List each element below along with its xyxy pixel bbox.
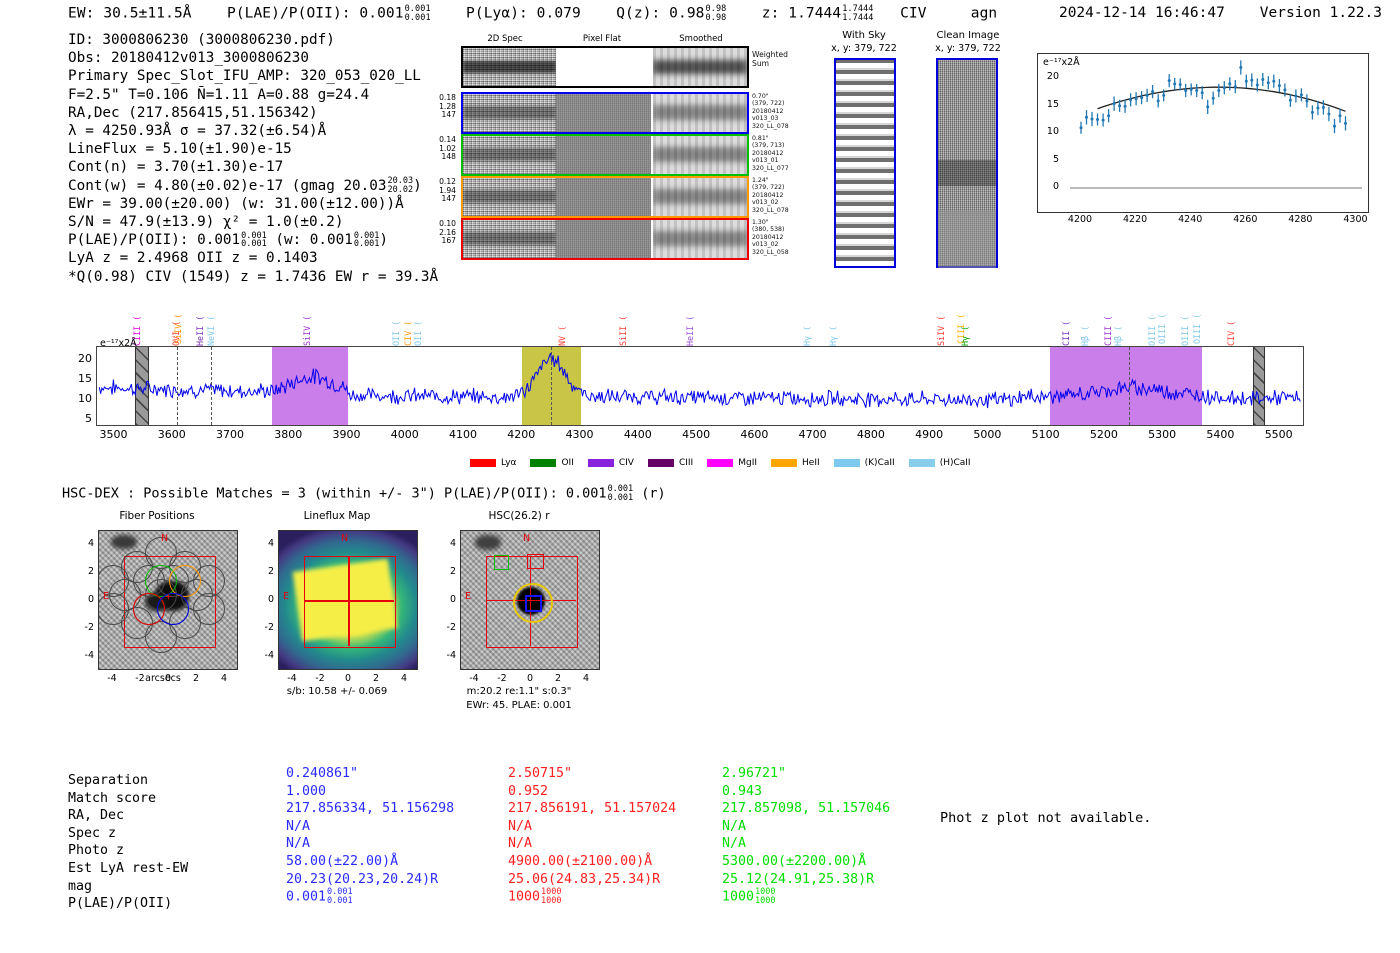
y-tick-label: 5 [1033, 154, 1059, 165]
weighted-sum-smoothed-image [653, 48, 747, 86]
exposure-meta-line: 320_LL_078 [752, 123, 798, 130]
weighted-sum-pixelflat-image [556, 48, 651, 86]
match-table-cell: 217.857098, 51.157046 [722, 800, 890, 818]
exposure-metrics: 0.102.16167 [424, 220, 456, 246]
hsc-r-image[interactable]: N E [460, 530, 600, 670]
hsc-match-marker-green [494, 555, 509, 570]
info-id: ID: 3000806230 (3000806230.pdf) [68, 31, 438, 49]
exposure-2dspec-image [463, 94, 556, 132]
legend-item: (H)CaII [909, 458, 971, 468]
x-tick-label: 0 [334, 673, 362, 684]
line-fit-axes [1037, 53, 1369, 213]
emission-line-label: SiIV ( [302, 304, 312, 346]
legend-swatch [648, 459, 674, 467]
exposure-meta: 0.70"(379, 722)20180412v013_03320_LL_078 [752, 93, 798, 130]
legend-label: Lyα [501, 458, 516, 468]
info-redshifts: LyA z = 2.4968 OII z = 0.1403 [68, 249, 438, 267]
timestamp: 2024-12-14 16:46:47 [1059, 5, 1225, 21]
match-table-cell: 4900.00(±2100.00)Å [508, 853, 676, 871]
emission-line-label: OII ( [413, 304, 423, 346]
x-tick-label: 4 [210, 673, 238, 684]
legend-label: CIII [679, 458, 693, 468]
hsc-caption-1: m:20.2 re:1.1" s:0.3" [424, 686, 614, 697]
exposure-metrics: 0.141.02148 [424, 136, 456, 162]
fiber-center-marker: + [165, 593, 172, 601]
legend-swatch [771, 459, 797, 467]
match-table-row-label: Est LyA rest-EW [68, 860, 188, 878]
y-tick-label: -4 [248, 650, 274, 661]
y-tick-label: 10 [64, 392, 92, 405]
match-table-cell: N/A [286, 818, 454, 836]
info-primary-amp: Primary Spec_Slot_IFU_AMP: 320_053_020_L… [68, 67, 438, 85]
emission-line-label: SiIV ( [936, 304, 946, 346]
exposure-metric-value: 148 [424, 153, 456, 162]
x-tick-label: 4300 [558, 428, 602, 441]
col-title-pixelflat: Pixel Flat [557, 34, 647, 44]
hsc-match-marker-red [527, 554, 544, 569]
x-tick-label: -2 [488, 673, 516, 684]
legend-item: Lyα [470, 458, 516, 468]
y-tick-label: 4 [248, 538, 274, 549]
x-tick-label: 4 [572, 673, 600, 684]
header-classification: CIV [900, 6, 927, 22]
exposure-smoothed-image [653, 178, 747, 216]
spectrum-legend: LyαOIICIVCIIIMgIIHeII(K)CaII(H)CaII [470, 452, 985, 471]
match-table-row-label: Separation [68, 772, 188, 790]
exposure-row [461, 134, 749, 176]
exposure-meta-line: 320_LL_077 [752, 165, 798, 172]
exposure-metric-value: 167 [424, 237, 456, 246]
exposure-meta-line: 320_LL_078 [752, 207, 798, 214]
info-ewr: EWr = 39.00(±20.00) (w: 31.00(±12.00))Å [68, 195, 438, 213]
exposure-2dspec-image [463, 136, 556, 174]
y-tick-label: 4 [430, 538, 456, 549]
y-tick-label: 2 [430, 566, 456, 577]
x-tick-label: -4 [98, 673, 126, 684]
x-tick-label: -2 [126, 673, 154, 684]
match-table-cell: 100010001000 [508, 888, 676, 906]
exposure-meta-line: 1.30" [752, 219, 798, 226]
compass-e-fiber: E [103, 591, 109, 602]
exposure-pixelflat-image [556, 136, 651, 174]
x-tick-label: 3700 [208, 428, 252, 441]
x-tick-label: 0 [516, 673, 544, 684]
match-table-cell: 1.000 [286, 783, 454, 801]
x-tick-label: 4240 [1172, 214, 1208, 225]
legend-label: (K)CaII [865, 458, 895, 468]
y-tick-label: -4 [68, 650, 94, 661]
x-tick-label: 3600 [150, 428, 194, 441]
exposure-metrics: 0.121.94147 [424, 178, 456, 204]
emission-line-label: NV ( [557, 304, 567, 346]
match-table-cell: 20.23(20.23,20.24)R [286, 871, 454, 889]
photz-note: Phot z plot not available. [940, 810, 1151, 826]
emission-line-label: HeII ( [195, 304, 205, 346]
y-tick-label: 0 [248, 594, 274, 605]
lineflux-fov-box [304, 556, 396, 648]
y-tick-label: 2 [68, 566, 94, 577]
weighted-sum-row [461, 46, 749, 88]
info-radec: RA,Dec (217.856415,51.156342) [68, 104, 438, 122]
x-tick-label: 5300 [1140, 428, 1184, 441]
match-table-row-label: Match score [68, 790, 188, 808]
match-table-cell: N/A [722, 835, 890, 853]
exposure-row [461, 92, 749, 134]
exposure-meta-line: (379, 722) [752, 100, 798, 107]
x-tick-label: 4100 [441, 428, 485, 441]
emission-line-label: CIV ( [403, 304, 413, 346]
match-table-col-red: 2.50715"0.952217.856191, 51.157024N/AN/A… [508, 765, 676, 906]
match-table-cell: 2.96721" [722, 765, 890, 783]
exposure-meta: 0.81"(379, 713)20180412v013_01320_LL_077 [752, 135, 798, 172]
y-tick-label: 20 [64, 352, 92, 365]
emission-line-label: OIII ( [1157, 278, 1167, 344]
header-qz: Q(z): 0.98 [616, 6, 704, 22]
match-table-cell: 2.50715" [508, 765, 676, 783]
y-tick-label: 10 [1033, 126, 1059, 137]
match-table-row-labels: SeparationMatch scoreRA, DecSpec zPhoto … [68, 772, 188, 913]
y-tick-label: -4 [430, 650, 456, 661]
emission-line-label: OVI ( [171, 304, 181, 346]
lineflux-map-panel: Lineflux Map N E s/b: 10.58 +/- 0.069 -4… [242, 510, 432, 710]
lineflux-crosshair-v [348, 556, 350, 646]
y-tick-label: 4 [68, 538, 94, 549]
legend-swatch [530, 459, 556, 467]
with-sky-image [834, 58, 896, 268]
exposure-meta-line: 320_LL_058 [752, 249, 798, 256]
emission-line-label: Hγ ( [828, 304, 838, 346]
exposure-meta: 1.30"(380, 538)20180412v013_02320_LL_058 [752, 219, 798, 256]
lineflux-map-title: Lineflux Map [242, 510, 432, 522]
match-table-row-label: RA, Dec [68, 807, 188, 825]
with-sky-coords: x, y: 379, 722 [818, 43, 910, 54]
fiber-positions-image[interactable]: + N E [98, 530, 238, 670]
legend-item: HeII [771, 458, 820, 468]
exposure-meta-line: v013_02 [752, 199, 798, 206]
legend-item: OII [530, 458, 573, 468]
x-tick-label: 5500 [1257, 428, 1301, 441]
match-table-cell: N/A [508, 818, 676, 836]
exposure-meta-line: 0.70" [752, 93, 798, 100]
compass-n-lineflux: N [341, 533, 348, 544]
clean-image-image [936, 58, 998, 268]
match-table-cell: 0.952 [508, 783, 676, 801]
x-tick-label: 4300 [1337, 214, 1373, 225]
x-tick-label: 4000 [383, 428, 427, 441]
header-plae: P(LAE)/P(OII): 0.001 [227, 6, 404, 22]
header-qz-frac: 0.980.98 [706, 5, 727, 22]
legend-swatch [707, 459, 733, 467]
y-tick-label: 20 [1033, 71, 1059, 82]
hsc-r-title: HSC(26.2) r [424, 510, 614, 522]
exposure-meta-line: (379, 713) [752, 142, 798, 149]
x-tick-label: 5000 [965, 428, 1009, 441]
legend-swatch [834, 459, 860, 467]
emission-line-label: SiII ( [618, 304, 628, 346]
exposure-2dspec-image [463, 220, 556, 258]
full-spectrum-block: CIII (SiIV (OVI (HeII (NeVI (SiIV (OII (… [96, 278, 1304, 448]
hscdex-heading: HSC-DEX : Possible Matches = 3 (within +… [62, 485, 666, 502]
header-summary: EW: 30.5±11.5Å P(LAE)/P(OII): 0.0010.001… [68, 5, 997, 22]
clean-image-title: Clean Image [918, 30, 1018, 41]
x-tick-label: 3500 [91, 428, 135, 441]
spectrum-vline [1129, 347, 1130, 425]
exposure-meta-line: v013_03 [752, 115, 798, 122]
emission-line-label: Hβ ( [1113, 304, 1123, 346]
line-fit-svg [1038, 54, 1370, 214]
exposure-row [461, 176, 749, 218]
y-tick-label: 0 [1033, 181, 1059, 192]
line-fit-units-label: e⁻¹⁷x2Å [1043, 57, 1080, 68]
header-plae-frac: 0.0010.001 [405, 5, 431, 22]
exposure-2dspec-image [463, 178, 556, 216]
x-tick-label: 4700 [791, 428, 835, 441]
line-fit-chart: e⁻¹⁷x2Å 05101520 42004220424042604280430… [1037, 53, 1369, 213]
y-tick-label: -2 [68, 622, 94, 633]
emission-line-label: Hβ ( [1080, 304, 1090, 346]
legend-label: HeII [802, 458, 820, 468]
x-tick-label: 5100 [1024, 428, 1068, 441]
legend-item: CIV [588, 458, 634, 468]
x-tick-label: -4 [278, 673, 306, 684]
exposure-meta: 1.24"(379, 722)20180412v013_02320_LL_078 [752, 177, 798, 214]
x-tick-label: 4600 [732, 428, 776, 441]
x-tick-label: 3800 [266, 428, 310, 441]
legend-item: CIII [648, 458, 693, 468]
exposure-meta-line: 20180412 [752, 234, 798, 241]
weighted-sum-2dspec-image [463, 48, 556, 86]
exposure-meta-line: 20180412 [752, 108, 798, 115]
exposure-metrics: 0.181.28147 [424, 94, 456, 120]
x-tick-label: 4260 [1227, 214, 1263, 225]
info-obs: Obs: 20180412v013_3000806230 [68, 49, 438, 67]
exposure-meta-line: v013_02 [752, 241, 798, 248]
header-plya: P(Lyα): 0.079 [466, 6, 581, 22]
clean-image-coords: x, y: 379, 722 [918, 43, 1018, 54]
spectrum-vline [211, 347, 212, 425]
emission-line-label: OIII ( [1192, 278, 1202, 344]
exposure-metric-value: 147 [424, 111, 456, 120]
y-tick-label: 15 [1033, 99, 1059, 110]
exposure-meta-line: (379, 722) [752, 184, 798, 191]
emission-line-label: OIII ( [1147, 304, 1157, 346]
spectrum-vline [177, 347, 178, 425]
legend-swatch [470, 459, 496, 467]
match-table-cell: N/A [286, 835, 454, 853]
emission-line-label: CII ( [1061, 304, 1071, 346]
compass-n-fiber: N [161, 533, 168, 544]
match-table-cell: 217.856334, 51.156298 [286, 800, 454, 818]
legend-item: MgII [707, 458, 757, 468]
emission-line-label: OIII ( [1180, 304, 1190, 346]
x-tick-label: 4220 [1117, 214, 1153, 225]
legend-swatch [909, 459, 935, 467]
spectrum-trace-svg [97, 347, 1303, 425]
compass-e-lineflux: E [283, 591, 289, 602]
legend-label: CIV [619, 458, 634, 468]
info-lambda: λ = 4250.93Å σ = 37.32(±6.54)Å [68, 122, 438, 140]
x-tick-label: 2 [182, 673, 210, 684]
exposure-meta-line: 20180412 [752, 192, 798, 199]
emission-line-label: Hγ ( [960, 304, 970, 346]
match-table-row-label: Spec z [68, 825, 188, 843]
legend-label: OII [561, 458, 573, 468]
match-table-cell: N/A [508, 835, 676, 853]
spectrum-vline [551, 347, 552, 425]
emission-line-label: Hγ ( [802, 304, 812, 346]
exposure-meta-line: 0.81" [752, 135, 798, 142]
y-tick-label: 0 [68, 594, 94, 605]
emission-line-label: CIV ( [1226, 304, 1236, 346]
x-tick-label: 2 [544, 673, 572, 684]
exposure-row [461, 218, 749, 260]
exposure-pixelflat-image [556, 94, 651, 132]
x-tick-label: 4500 [674, 428, 718, 441]
x-tick-label: -4 [460, 673, 488, 684]
x-tick-label: -2 [306, 673, 334, 684]
x-tick-label: 4200 [499, 428, 543, 441]
emission-line-label: HeII ( [685, 304, 695, 346]
with-sky-title: With Sky [818, 30, 910, 41]
info-plae: P(LAE)/P(OII): 0.0010.0010.001 (w: 0.001… [68, 231, 438, 249]
object-info-block: ID: 3000806230 (3000806230.pdf) Obs: 201… [68, 31, 438, 286]
y-tick-label: -2 [430, 622, 456, 633]
exposure-meta-line: (380, 538) [752, 226, 798, 233]
lineflux-map-image[interactable]: N E [278, 530, 418, 670]
legend-label: MgII [738, 458, 757, 468]
x-tick-label: 5200 [1082, 428, 1126, 441]
match-table-cell: 5300.00(±2200.00)Å [722, 853, 890, 871]
y-tick-label: 0 [430, 594, 456, 605]
y-tick-label: 5 [64, 412, 92, 425]
match-table-row-label: P(LAE)/P(OII) [68, 895, 188, 913]
match-table-cell: 217.856191, 51.157024 [508, 800, 676, 818]
y-tick-label: 2 [248, 566, 274, 577]
header-ew: EW: 30.5±11.5Å [68, 6, 192, 22]
match-table-col-blue: 0.240861"1.000217.856334, 51.156298N/AN/… [286, 765, 454, 906]
x-tick-label: 4800 [849, 428, 893, 441]
info-cont-w: Cont(w) = 4.80(±0.02)e-17 (gmag 20.0320.… [68, 177, 438, 195]
exposure-smoothed-image [653, 94, 747, 132]
spectrum-axes [96, 346, 1304, 426]
fiber-positions-panel: Fiber Positions + N E arcsecs -4-2024420… [62, 510, 252, 710]
spectrum-units-label: e⁻¹⁷x2Å [100, 338, 137, 349]
x-tick-label: 4200 [1062, 214, 1098, 225]
x-tick-label: 4400 [616, 428, 660, 441]
info-cont-n: Cont(n) = 3.70(±1.30)e-17 [68, 158, 438, 176]
exposure-meta-line: v013_01 [752, 157, 798, 164]
fiber-highlight-blue [157, 593, 189, 625]
weighted-sum-label: WeightedSum [752, 50, 794, 68]
exposure-smoothed-image [653, 220, 747, 258]
match-table-cell: 0.240861" [286, 765, 454, 783]
match-table-cell: 25.12(24.91,25.38)R [722, 871, 890, 889]
hsc-match-marker-blue [525, 595, 542, 612]
emission-line-label: OII ( [391, 304, 401, 346]
y-tick-label: 15 [64, 372, 92, 385]
fiber-positions-title: Fiber Positions [62, 510, 252, 522]
exposure-meta-line: 20180412 [752, 150, 798, 157]
x-tick-label: 4900 [907, 428, 951, 441]
emission-line-label: CIII ( [1103, 304, 1113, 346]
match-table-cell: 0.0010.0010.001 [286, 888, 454, 906]
y-tick-label: -2 [248, 622, 274, 633]
exposure-meta-line: 1.24" [752, 177, 798, 184]
exposure-smoothed-image [653, 136, 747, 174]
hsc-caption-2: EWr: 45. PLAE: 0.001 [424, 700, 614, 711]
match-table-row-label: Photo z [68, 842, 188, 860]
match-table-cell: 25.06(24.83,25.34)R [508, 871, 676, 889]
match-table-row-label: mag [68, 878, 188, 896]
legend-swatch [588, 459, 614, 467]
exposure-pixelflat-image [556, 178, 651, 216]
match-table-cell: 100010001000 [722, 888, 890, 906]
x-tick-label: 4 [390, 673, 418, 684]
header-timestamp-version: 2024-12-14 16:46:47 Version 1.22.3 [1059, 5, 1382, 21]
legend-label: (H)CaII [940, 458, 971, 468]
header-z: z: 1.7444 [762, 6, 841, 22]
col-title-2dspec: 2D Spec [460, 34, 550, 44]
compass-n-hsc: N [523, 533, 530, 544]
compass-e-hsc: E [465, 591, 471, 602]
lineflux-caption: s/b: 10.58 +/- 0.069 [242, 686, 432, 697]
match-table-cell: 0.943 [722, 783, 890, 801]
info-seeing: F=2.5" T=0.106 N̄=1.11 A=0.88 g=24.4 [68, 86, 438, 104]
x-tick-label: 3900 [325, 428, 369, 441]
version-label: Version 1.22.3 [1260, 5, 1382, 21]
x-tick-label: 2 [362, 673, 390, 684]
match-table-cell: N/A [722, 818, 890, 836]
info-snr: S/N = 47.9(±13.9) χ² = 1.0(±0.2) [68, 213, 438, 231]
header-z-frac: 1.74441.7444 [842, 5, 873, 22]
match-table-col-green: 2.96721"0.943217.857098, 51.157046N/AN/A… [722, 765, 890, 906]
info-lineflux: LineFlux = 5.10(±1.90)e-15 [68, 140, 438, 158]
exposure-metric-value: 147 [424, 195, 456, 204]
match-table-cell: 58.00(±22.00)Å [286, 853, 454, 871]
emission-line-label: NeVI ( [206, 304, 216, 346]
x-tick-label: 4280 [1282, 214, 1318, 225]
x-tick-label: 5400 [1198, 428, 1242, 441]
x-tick-label: 0 [154, 673, 182, 684]
col-title-smoothed: Smoothed [656, 34, 746, 44]
hsc-r-panel: HSC(26.2) r N E m:20.2 re:1.1" s:0.3" EW… [424, 510, 614, 720]
exposure-pixelflat-image [556, 220, 651, 258]
spec2d-block: 2D Spec Pixel Flat Smoothed WeightedSum … [460, 34, 760, 254]
header-agn-flag: agn [971, 6, 998, 22]
legend-item: (K)CaII [834, 458, 895, 468]
